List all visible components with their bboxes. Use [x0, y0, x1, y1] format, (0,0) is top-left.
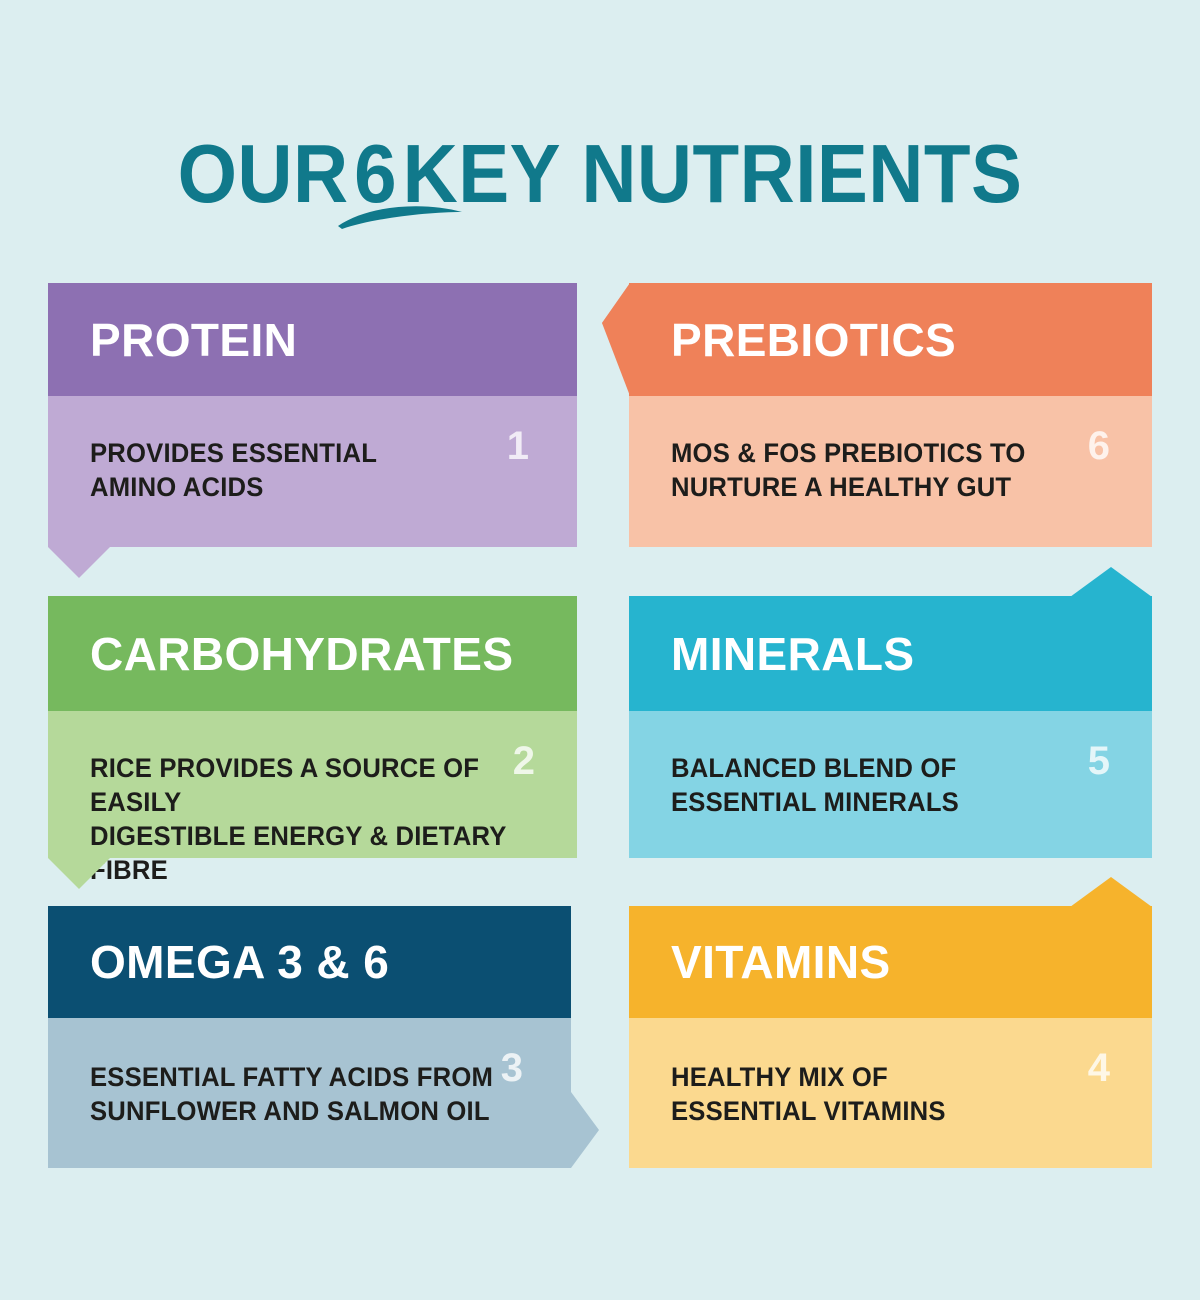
card-description-prebiotics: MOS & FOS PREBIOTICS TO NURTURE A HEALTH… [671, 436, 1025, 504]
card-arrow-down-carbohydrates [48, 858, 110, 889]
card-body-minerals: BALANCED BLEND OF ESSENTIAL MINERALS 5 [629, 711, 1152, 858]
card-number-carbohydrates: 2 [513, 741, 535, 781]
page-title-prefix: OUR [178, 127, 349, 220]
card-arrow-left-prebiotics [602, 283, 630, 401]
card-arrow-up-minerals [1070, 567, 1152, 602]
card-header-protein: PROTEIN [48, 283, 577, 396]
title-swoosh-underline [330, 196, 470, 230]
nutrient-card-minerals[interactable]: MINERALS BALANCED BLEND OF ESSENTIAL MIN… [629, 596, 1152, 858]
card-body-carbohydrates: RICE PROVIDES A SOURCE OF EASILY DIGESTI… [48, 711, 577, 858]
card-title-carbohydrates: CARBOHYDRATES [90, 631, 513, 677]
card-title-prebiotics: PREBIOTICS [671, 317, 956, 363]
card-header-vitamins: VITAMINS [629, 906, 1152, 1018]
card-number-vitamins: 4 [1088, 1048, 1110, 1088]
card-description-vitamins: HEALTHY MIX OF ESSENTIAL VITAMINS [671, 1060, 946, 1128]
nutrient-card-protein[interactable]: PROTEIN PROVIDES ESSENTIAL AMINO ACIDS 1 [48, 283, 577, 547]
card-description-protein: PROVIDES ESSENTIAL AMINO ACIDS [90, 436, 377, 504]
card-title-vitamins: VITAMINS [671, 939, 891, 985]
card-body-protein: PROVIDES ESSENTIAL AMINO ACIDS 1 [48, 396, 577, 547]
card-body-prebiotics: MOS & FOS PREBIOTICS TO NURTURE A HEALTH… [629, 396, 1152, 547]
card-header-omega: OMEGA 3 & 6 [48, 906, 571, 1018]
page-title-block: OUR6KEY NUTRIENTS [0, 128, 1200, 238]
card-title-protein: PROTEIN [90, 317, 297, 363]
card-title-minerals: MINERALS [671, 631, 914, 677]
card-arrow-up-vitamins [1070, 877, 1152, 912]
card-number-omega: 3 [501, 1048, 523, 1088]
card-header-prebiotics: PREBIOTICS [629, 283, 1152, 396]
card-body-vitamins: HEALTHY MIX OF ESSENTIAL VITAMINS 4 [629, 1018, 1152, 1168]
card-title-omega: OMEGA 3 & 6 [90, 939, 389, 985]
nutrient-card-omega[interactable]: OMEGA 3 & 6 ESSENTIAL FATTY ACIDS FROM S… [48, 906, 571, 1168]
card-description-omega: ESSENTIAL FATTY ACIDS FROM SUNFLOWER AND… [90, 1060, 493, 1128]
card-number-protein: 1 [507, 426, 529, 466]
card-description-carbohydrates: RICE PROVIDES A SOURCE OF EASILY DIGESTI… [90, 751, 553, 887]
card-header-minerals: MINERALS [629, 596, 1152, 711]
page-title-suffix: KEY NUTRIENTS [403, 127, 1023, 220]
card-arrow-down-protein [48, 547, 110, 578]
card-description-minerals: BALANCED BLEND OF ESSENTIAL MINERALS [671, 751, 959, 819]
nutrient-card-vitamins[interactable]: VITAMINS HEALTHY MIX OF ESSENTIAL VITAMI… [629, 906, 1152, 1168]
nutrient-card-carbohydrates[interactable]: CARBOHYDRATES RICE PROVIDES A SOURCE OF … [48, 596, 577, 858]
card-body-omega: ESSENTIAL FATTY ACIDS FROM SUNFLOWER AND… [48, 1018, 571, 1168]
infographic-page: OUR6KEY NUTRIENTS PROTEIN PROVIDES ESSEN… [0, 0, 1200, 1300]
page-title: OUR6KEY NUTRIENTS [48, 128, 1152, 220]
card-arrow-right-omega [571, 1092, 599, 1168]
card-number-minerals: 5 [1088, 741, 1110, 781]
card-number-prebiotics: 6 [1088, 426, 1110, 466]
nutrient-card-prebiotics[interactable]: PREBIOTICS MOS & FOS PREBIOTICS TO NURTU… [629, 283, 1152, 547]
card-header-carbohydrates: CARBOHYDRATES [48, 596, 577, 711]
